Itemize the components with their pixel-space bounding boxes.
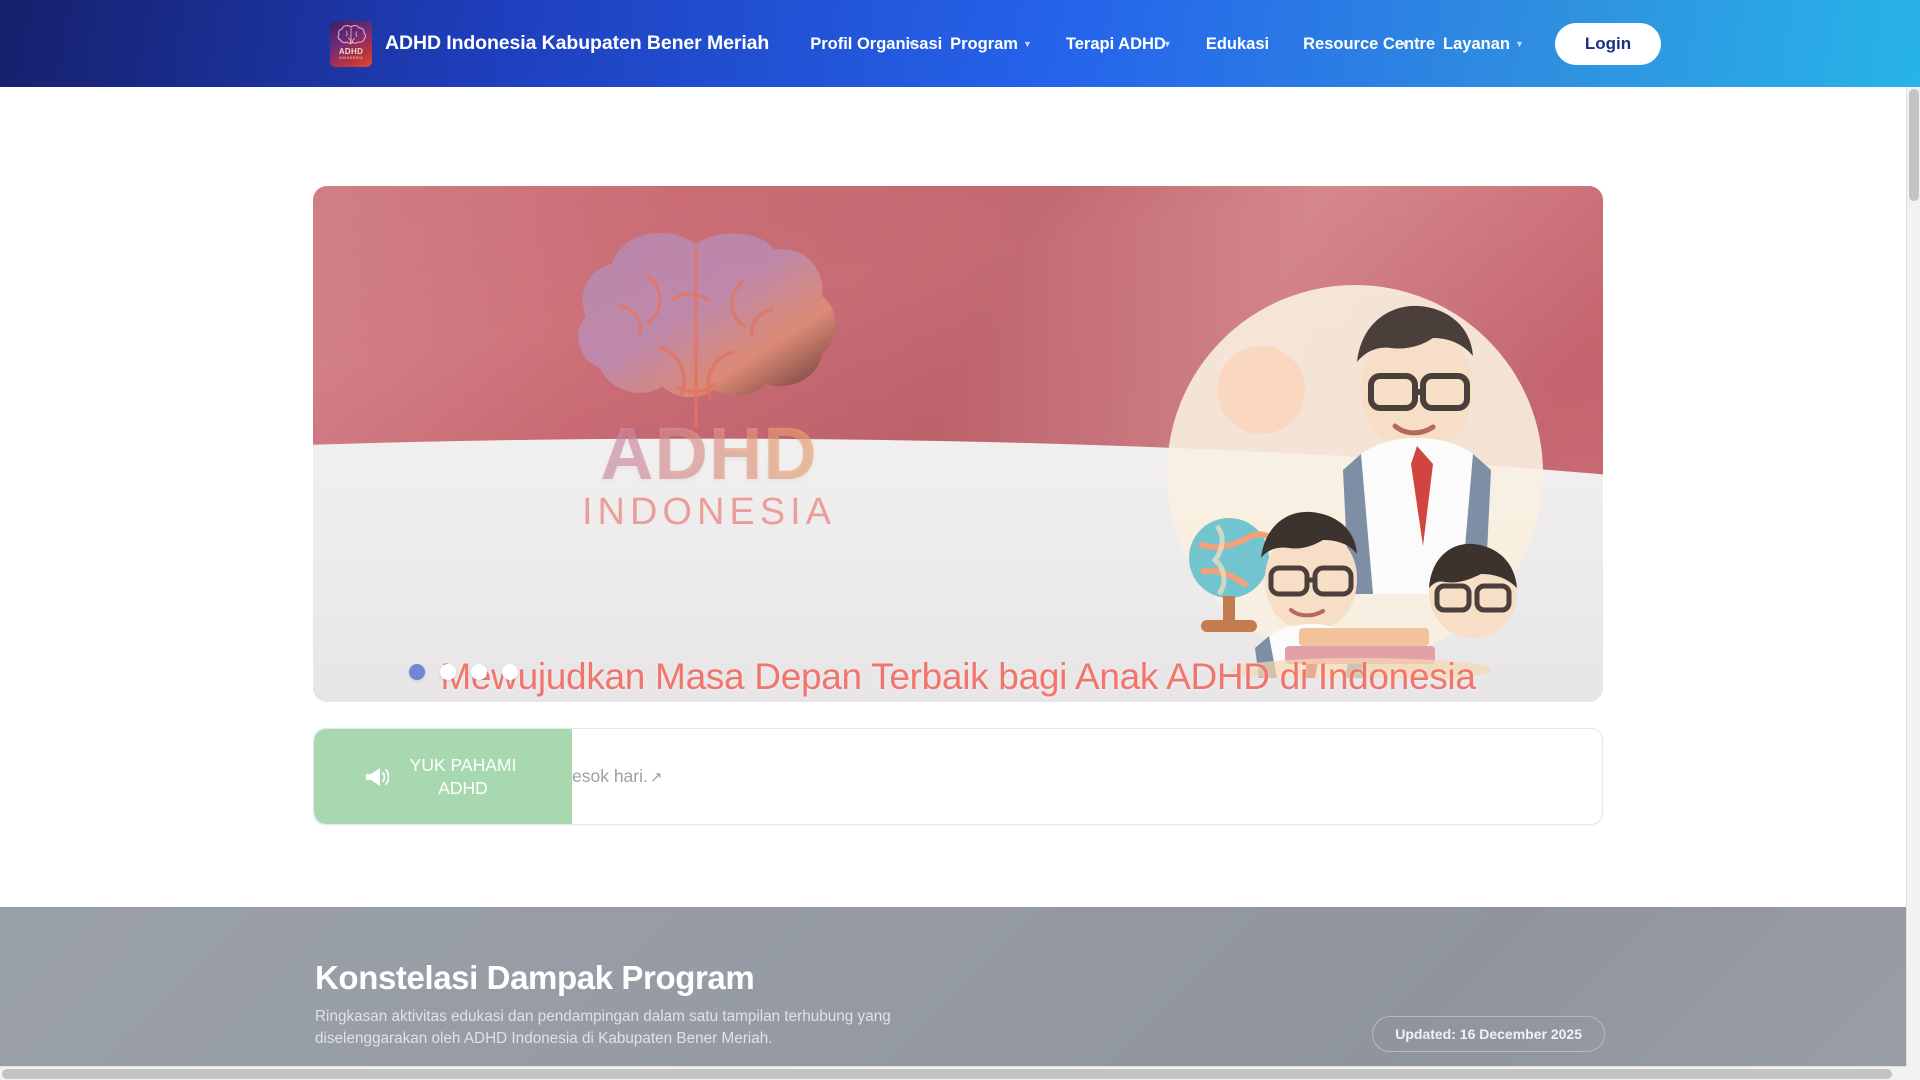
- hero-wordmark: ADHD INDONESIA: [494, 417, 924, 531]
- carousel-dot-1[interactable]: [409, 664, 425, 680]
- carousel-dot-4[interactable]: [502, 664, 518, 680]
- chevron-down-icon[interactable]: ▼: [1400, 40, 1409, 49]
- brain-logo-icon: ADHD INDONESIA: [330, 21, 372, 67]
- chevron-down-icon[interactable]: ▼: [907, 40, 916, 49]
- nav-label-resource-centre: Resource Centre: [1303, 34, 1395, 54]
- horizontal-scrollbar-thumb[interactable]: [2, 1069, 1892, 1079]
- nav-item-layanan[interactable]: Layanan ▼: [1426, 28, 1541, 60]
- nav-item-resource-centre[interactable]: Resource Centre ▼: [1286, 28, 1426, 60]
- megaphone-icon: [363, 765, 389, 789]
- konstelasi-title: Konstelasi Dampak Program: [315, 959, 1605, 997]
- scrollbar-corner: [1906, 1066, 1920, 1080]
- navbar-inner: ADHD INDONESIA ADHD Indonesia Kabupaten …: [0, 21, 1920, 67]
- carousel-dots[interactable]: [409, 664, 518, 680]
- nav-item-profil-organisasi[interactable]: Profil Organisasi ▼: [793, 28, 933, 60]
- konstelasi-section: Konstelasi Dampak Program Ringkasan akti…: [0, 907, 1920, 1080]
- chevron-down-icon[interactable]: ▼: [1163, 40, 1172, 49]
- external-link-arrow-icon: ↗: [650, 769, 663, 786]
- top-navigation-bar: ADHD INDONESIA ADHD Indonesia Kabupaten …: [0, 0, 1920, 87]
- carousel-dot-3[interactable]: [471, 664, 487, 680]
- konstelasi-updated-badge: Updated: 16 December 2025: [1372, 1016, 1605, 1052]
- brand-title: ADHD Indonesia Kabupaten Bener Meriah: [385, 32, 769, 55]
- nav-label-program: Program: [950, 34, 1018, 54]
- nav-item-edukasi[interactable]: Edukasi: [1189, 28, 1286, 60]
- page-content: ADHD INDONESIA: [0, 87, 1920, 1080]
- nav-label-layanan: Layanan: [1443, 34, 1510, 54]
- carousel-dot-2[interactable]: [440, 664, 456, 680]
- announcement-ticker-text: esok hari.↗: [572, 766, 662, 787]
- vertical-scrollbar[interactable]: [1906, 87, 1920, 1080]
- horizontal-scrollbar[interactable]: [0, 1066, 1920, 1080]
- brand-block[interactable]: ADHD INDONESIA ADHD Indonesia Kabupaten …: [330, 21, 769, 67]
- announcement-badge[interactable]: YUK PAHAMI ADHD: [314, 729, 572, 824]
- login-button[interactable]: Login: [1555, 23, 1661, 65]
- logo-adhd-text: ADHD: [339, 48, 363, 56]
- hero-wordmark-indonesia: INDONESIA: [494, 493, 924, 531]
- announcement-badge-label: YUK PAHAMI ADHD: [403, 754, 523, 800]
- vertical-scrollbar-thumb[interactable]: [1909, 89, 1919, 201]
- nav-item-terapi-adhd[interactable]: Terapi ADHD ▼: [1049, 28, 1189, 60]
- announcement-ticker-message: esok hari.: [572, 766, 648, 786]
- hero-family-illustration-icon: [1165, 258, 1545, 678]
- konstelasi-inner: Konstelasi Dampak Program Ringkasan akti…: [315, 907, 1605, 1049]
- nav-label-profil-organisasi: Profil Organisasi: [810, 34, 902, 54]
- page-root: ADHD INDONESIA ADHD Indonesia Kabupaten …: [0, 0, 1920, 1080]
- hero-slide: ADHD INDONESIA: [313, 186, 1603, 702]
- nav-menu: Profil Organisasi ▼ Program ▼ Terapi ADH…: [793, 23, 1661, 65]
- chevron-down-icon[interactable]: ▼: [1023, 40, 1032, 49]
- nav-item-program[interactable]: Program ▼: [933, 28, 1049, 60]
- chevron-down-icon[interactable]: ▼: [1515, 40, 1524, 49]
- hero-wordmark-adhd: ADHD: [494, 417, 924, 491]
- announcement-ticker[interactable]: esok hari.↗: [572, 729, 1602, 824]
- brain-glyph-icon: [336, 25, 366, 47]
- announcement-bar: YUK PAHAMI ADHD esok hari.↗: [313, 728, 1603, 825]
- logo-indonesia-text: INDONESIA: [339, 56, 363, 61]
- hero-carousel[interactable]: ADHD INDONESIA: [313, 186, 1603, 702]
- nav-label-edukasi: Edukasi: [1206, 34, 1269, 54]
- nav-label-terapi-adhd: Terapi ADHD: [1066, 34, 1158, 54]
- konstelasi-subtitle: Ringkasan aktivitas edukasi dan pendampi…: [315, 1006, 955, 1049]
